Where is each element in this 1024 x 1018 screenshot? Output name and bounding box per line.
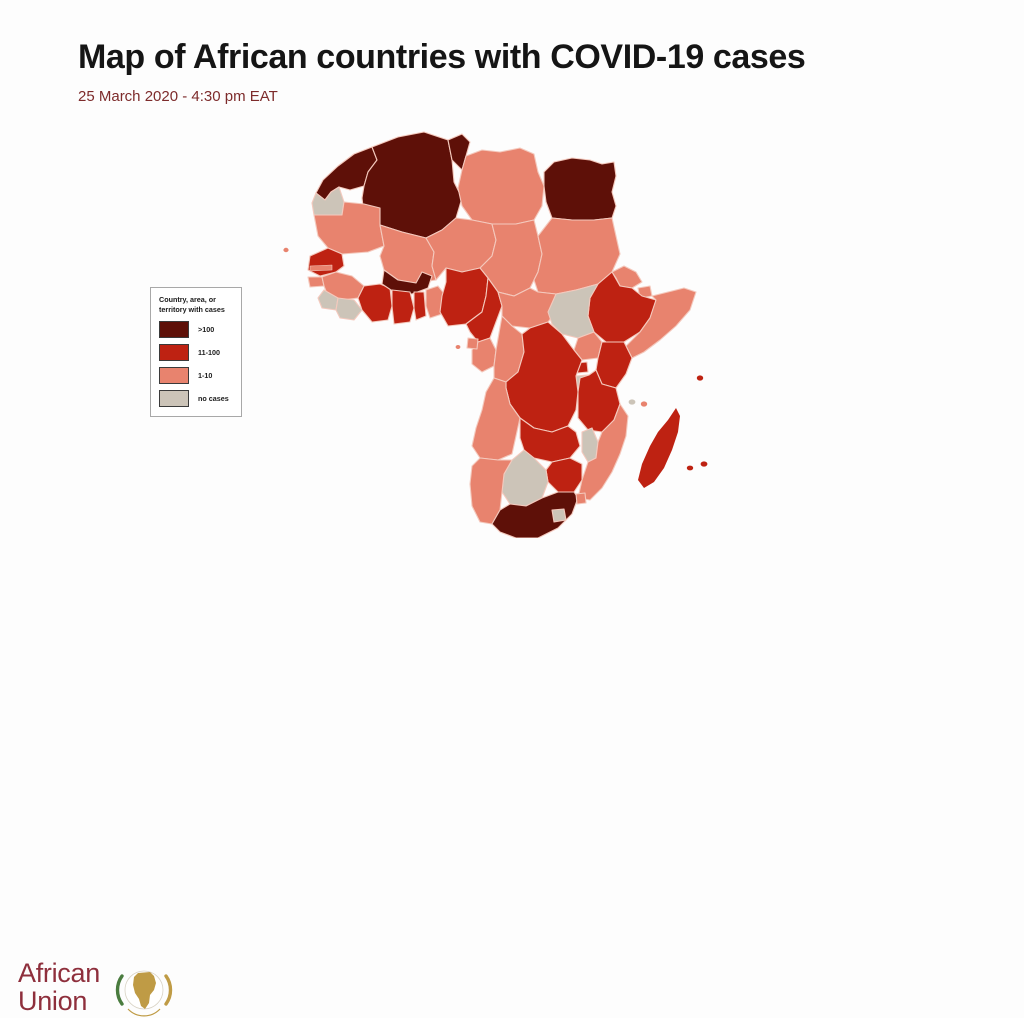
country-mauritius[interactable] <box>701 461 708 466</box>
country-equatorial-guinea[interactable] <box>467 338 478 349</box>
legend-item-gt100: >100 <box>159 321 233 338</box>
africa-choropleth-map <box>276 120 756 538</box>
country-ghana[interactable] <box>392 290 414 324</box>
legend-item-no-cases: no cases <box>159 390 233 407</box>
country-togo[interactable] <box>414 292 426 320</box>
map-svg <box>276 120 756 538</box>
legend-swatch-gt100 <box>159 321 189 338</box>
country-lesotho[interactable] <box>552 509 566 522</box>
country-sao-tome[interactable] <box>456 345 461 349</box>
country-gambia[interactable] <box>310 265 332 271</box>
country-cote-divoire[interactable] <box>358 284 392 322</box>
country-cape-verde[interactable] <box>283 248 288 252</box>
page-subtitle: 25 March 2020 - 4:30 pm EAT <box>78 88 278 105</box>
legend-swatch-11-100 <box>159 344 189 361</box>
legend-label-no-cases: no cases <box>198 394 229 403</box>
country-kenya[interactable] <box>596 342 632 388</box>
au-line-2: Union <box>18 988 100 1016</box>
country-egypt[interactable] <box>544 158 616 220</box>
legend-item-1-10: 1-10 <box>159 367 233 384</box>
african-union-emblem-icon <box>108 962 180 1018</box>
slide-canvas: Map of African countries with COVID-19 c… <box>0 0 1024 538</box>
country-mayotte[interactable] <box>641 401 647 406</box>
legend-label-gt100: >100 <box>198 325 214 334</box>
legend-title: Country, area, or territory with cases <box>159 295 233 314</box>
country-guinea-bissau[interactable] <box>308 277 324 287</box>
country-madagascar[interactable] <box>638 408 680 488</box>
page-title: Map of African countries with COVID-19 c… <box>78 38 805 77</box>
africa-cdc-logo: AFRICA CDC Centres for Disease Control a… <box>812 476 1024 538</box>
african-union-logo: African Union <box>8 478 180 538</box>
legend-swatch-no-cases <box>159 390 189 407</box>
legend-swatch-1-10 <box>159 367 189 384</box>
country-comoros[interactable] <box>629 399 636 404</box>
african-union-wordmark: African Union <box>18 960 100 1015</box>
country-seychelles[interactable] <box>697 375 703 380</box>
au-line-1: African <box>18 960 100 988</box>
country-libya[interactable] <box>458 148 544 224</box>
legend-item-11-100: 11-100 <box>159 344 233 361</box>
country-senegal[interactable] <box>308 248 344 276</box>
country-eswatini[interactable] <box>576 493 586 504</box>
legend-label-11-100: 11-100 <box>198 348 220 357</box>
legend-label-1-10: 1-10 <box>198 371 212 380</box>
map-legend: Country, area, or territory with cases >… <box>150 287 242 417</box>
country-reunion[interactable] <box>687 466 693 471</box>
country-zimbabwe[interactable] <box>546 458 582 492</box>
country-liberia[interactable] <box>336 298 362 320</box>
